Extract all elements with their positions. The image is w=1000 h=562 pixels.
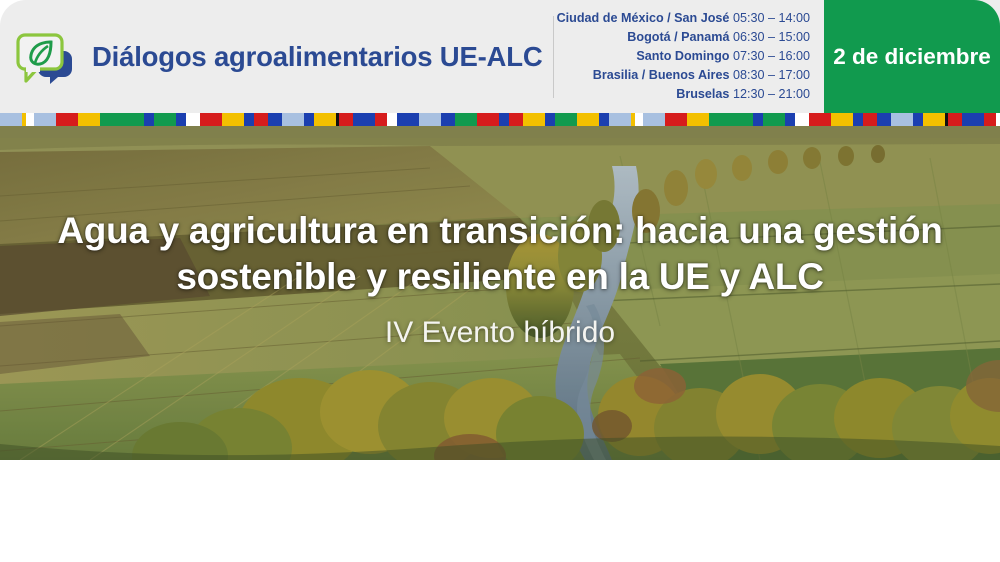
flag-stripe	[387, 113, 397, 126]
flag-stripe	[523, 113, 545, 126]
flag-stripe	[499, 113, 509, 126]
timezone-place: Ciudad de México / San José	[557, 11, 730, 25]
flag-stripe	[948, 113, 962, 126]
flag-stripe	[397, 113, 419, 126]
flag-stripe	[314, 113, 336, 126]
flag-stripe	[687, 113, 709, 126]
flag-stripe	[785, 113, 795, 126]
flag-stripe	[763, 113, 785, 126]
flag-stripe	[304, 113, 314, 126]
event-date-badge: 2 de diciembre	[824, 0, 1000, 113]
event-date-text: 2 de diciembre	[833, 44, 991, 70]
flag-stripe	[375, 113, 387, 126]
flag-stripe	[913, 113, 923, 126]
flag-stripe	[831, 113, 853, 126]
flag-stripe	[545, 113, 555, 126]
flag-stripe	[599, 113, 609, 126]
flag-stripe	[984, 113, 996, 126]
flag-stripe	[56, 113, 78, 126]
flag-stripe	[863, 113, 877, 126]
flag-stripe	[122, 113, 144, 126]
timezone-row: Bogotá / Panamá 06:30 – 15:00	[627, 29, 810, 46]
flag-stripe	[222, 113, 244, 126]
flag-stripe	[923, 113, 945, 126]
hero-text-block: Agua y agricultura en transición: hacia …	[0, 126, 1000, 460]
flag-stripe	[268, 113, 282, 126]
flag-stripe	[339, 113, 353, 126]
event-title: Agua y agricultura en transición: hacia …	[40, 208, 960, 300]
timezone-row: Bruselas 12:30 – 21:00	[676, 86, 810, 103]
timezone-hours: 07:30 – 16:00	[733, 49, 810, 63]
flag-stripe	[0, 113, 22, 126]
timezone-place: Bogotá / Panamá	[627, 30, 729, 44]
timezone-place: Brasilia / Buenos Aires	[593, 68, 730, 82]
flag-stripe	[996, 113, 1000, 126]
flag-stripe	[455, 113, 477, 126]
flag-stripe	[709, 113, 731, 126]
flag-stripe	[186, 113, 200, 126]
flag-stripe	[144, 113, 154, 126]
flag-stripe	[731, 113, 753, 126]
flag-stripe	[643, 113, 665, 126]
flag-stripe	[100, 113, 122, 126]
timezone-list: Ciudad de México / San José 05:30 – 14:0…	[553, 0, 824, 113]
timezone-place: Santo Domingo	[636, 49, 729, 63]
flag-strip-decoration	[0, 113, 1000, 126]
flag-stripe	[665, 113, 687, 126]
flag-stripe	[441, 113, 455, 126]
leaf-speech-bubble-icon	[14, 29, 76, 85]
flag-stripe	[753, 113, 763, 126]
banner-header: Diálogos agroalimentarios UE-ALC Ciudad …	[0, 0, 1000, 113]
flag-stripe	[877, 113, 891, 126]
flag-stripe	[282, 113, 304, 126]
flag-stripe	[254, 113, 268, 126]
flag-stripe	[555, 113, 577, 126]
timezone-hours: 08:30 – 17:00	[733, 68, 810, 82]
timezone-row: Santo Domingo 07:30 – 16:00	[636, 48, 810, 65]
flag-stripe	[635, 113, 643, 126]
flag-stripe	[353, 113, 375, 126]
flag-stripe	[200, 113, 222, 126]
flag-stripe	[26, 113, 34, 126]
timezone-row: Ciudad de México / San José 05:30 – 14:0…	[557, 10, 810, 27]
timezone-place: Bruselas	[676, 87, 729, 101]
banner-brand-title: Diálogos agroalimentarios UE-ALC	[92, 41, 542, 73]
flag-stripe	[609, 113, 631, 126]
flag-stripe	[853, 113, 863, 126]
flag-stripe	[577, 113, 599, 126]
flag-stripe	[809, 113, 831, 126]
flag-stripe	[962, 113, 984, 126]
timezone-hours: 05:30 – 14:00	[733, 11, 810, 25]
event-banner: Diálogos agroalimentarios UE-ALC Ciudad …	[0, 0, 1000, 562]
flag-stripe	[795, 113, 809, 126]
flag-stripe	[509, 113, 523, 126]
flag-stripe	[477, 113, 499, 126]
flag-stripe	[154, 113, 176, 126]
flag-stripe	[244, 113, 254, 126]
flag-stripe	[891, 113, 913, 126]
event-subtitle: IV Evento híbrido	[385, 316, 615, 350]
flag-stripe	[176, 113, 186, 126]
flag-stripe	[34, 113, 56, 126]
flag-stripe	[78, 113, 100, 126]
banner-footer: Global Gateway AL-INVEST Verde	[0, 460, 1000, 562]
brand-area: Diálogos agroalimentarios UE-ALC	[0, 0, 553, 113]
timezone-hours: 12:30 – 21:00	[733, 87, 810, 101]
timezone-row: Brasilia / Buenos Aires 08:30 – 17:00	[593, 67, 810, 84]
flag-stripe	[419, 113, 441, 126]
timezone-hours: 06:30 – 15:00	[733, 30, 810, 44]
